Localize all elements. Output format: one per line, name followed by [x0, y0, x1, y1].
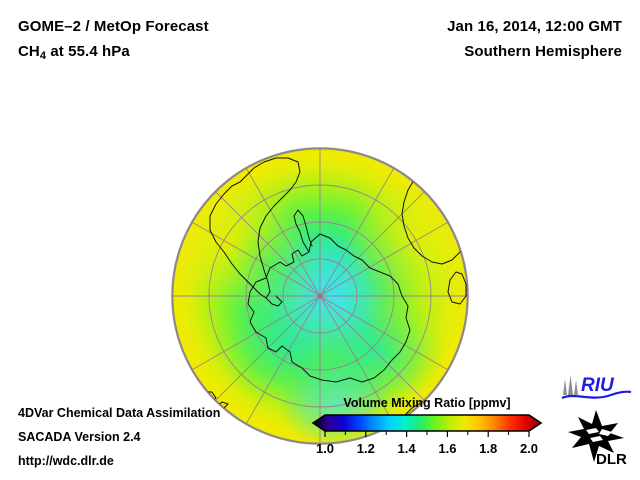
riu-wordmark: RIU	[581, 375, 615, 396]
figure-canvas: GOME–2 / MetOp Forecast CH4 at 55.4 hPa …	[0, 0, 640, 480]
colorbar-tick-4: 1.8	[479, 441, 497, 456]
species-label: CH	[18, 43, 40, 60]
region-label: Southern Hemisphere	[447, 39, 622, 64]
colorbar-tick-0: 1.0	[316, 441, 334, 456]
riu-logo: RIU	[561, 371, 633, 406]
south-pole-marker	[318, 294, 322, 298]
footer-url[interactable]: http://wdc.dlr.de	[18, 449, 114, 473]
colorbar-tick-3: 1.6	[438, 441, 456, 456]
colorbar-tick-5: 2.0	[520, 441, 538, 456]
pressure-level-label: at 55.4 hPa	[46, 43, 130, 60]
riu-spikes-icon	[563, 375, 578, 395]
dlr-logo-svg: DLR	[566, 408, 632, 468]
riu-logo-svg: RIU	[561, 371, 633, 401]
footer-method: 4DVar Chemical Data Assimilation	[18, 401, 220, 425]
page-subtitle: CH4 at 55.4 hPa	[18, 39, 209, 69]
dlr-wordmark: DLR	[596, 451, 627, 468]
header-right: Jan 16, 2014, 12:00 GMT Southern Hemisph…	[447, 14, 622, 64]
footer-version: SACADA Version 2.4	[18, 425, 141, 449]
colorbar: Volume Mixing Ratio [ppmv] 1.01.21.41.61…	[311, 396, 543, 468]
header-left: GOME–2 / MetOp Forecast CH4 at 55.4 hPa	[18, 14, 209, 69]
footer-line-1: 4DVar Chemical Data Assimilation	[18, 401, 220, 425]
dlr-logo: DLR	[566, 408, 632, 473]
colorbar-title: Volume Mixing Ratio [ppmv]	[311, 396, 543, 411]
timestamp-label: Jan 16, 2014, 12:00 GMT	[447, 14, 622, 39]
page-title: GOME–2 / MetOp Forecast	[18, 14, 209, 39]
colorbar-tick-2: 1.4	[398, 441, 416, 456]
colorbar-tick-1: 1.2	[357, 441, 375, 456]
colorbar-ticks	[325, 431, 529, 437]
colorbar-tick-labels: 1.01.21.41.61.82.0	[311, 441, 543, 459]
footer-line-3[interactable]: http://wdc.dlr.de	[18, 449, 114, 473]
footer-line-2: SACADA Version 2.4	[18, 425, 141, 449]
colorbar-gradient	[313, 415, 541, 431]
colorbar-scale	[311, 414, 543, 440]
